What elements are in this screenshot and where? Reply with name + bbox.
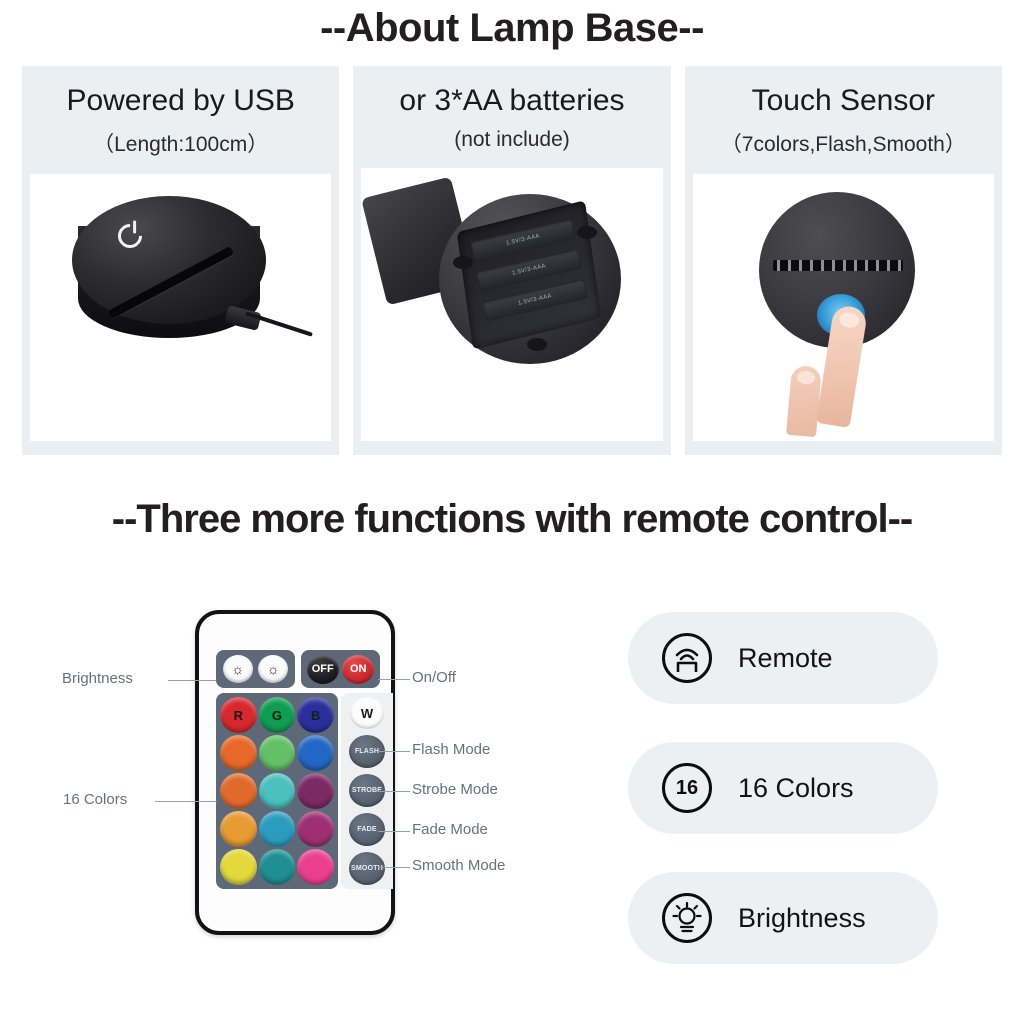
- color-cyan-button[interactable]: [259, 811, 296, 847]
- panel-title: Touch Sensor: [752, 84, 935, 119]
- remote-top-row: ☼ ☼ OFF ON: [216, 650, 380, 688]
- color-green-button[interactable]: G: [259, 697, 296, 733]
- leader-line-16-colors: [155, 801, 217, 802]
- callout-on-off: On/Off: [412, 669, 456, 686]
- color-red-button[interactable]: R: [220, 697, 257, 733]
- battery-compartment-photo: 1.5V/3-AAA 1.5V/3-AAA 1.5V/3-AAA: [361, 168, 662, 442]
- callout-flash-mode: Flash Mode: [412, 741, 490, 758]
- leader-line-fade: [378, 831, 410, 832]
- panel-title: Powered by USB: [66, 84, 294, 119]
- feature-pill-list: Remote 16 16 Colors Brig: [628, 612, 938, 964]
- color-white-button[interactable]: W: [350, 697, 384, 729]
- page-title-remote-functions: --Three more functions with remote contr…: [0, 497, 1024, 542]
- panel-touch-sensor: Touch Sensor （7colors,Flash,Smooth）: [685, 66, 1002, 455]
- touch-sensor-photo: [693, 174, 994, 442]
- feature-pill-remote[interactable]: Remote: [628, 612, 938, 704]
- panel-subtitle: （Length:100cm）: [93, 128, 268, 158]
- feature-pill-label: 16 Colors: [738, 773, 854, 804]
- lightbulb-icon: [662, 893, 712, 943]
- leader-line-on-off: [378, 679, 410, 680]
- color-teal-button[interactable]: [259, 849, 296, 885]
- color-amber-button[interactable]: [220, 811, 257, 847]
- color-yellow-button[interactable]: [220, 849, 257, 885]
- hand-finger-secondary: [786, 364, 822, 436]
- off-button[interactable]: OFF: [307, 655, 339, 684]
- callout-smooth-mode: Smooth Mode: [412, 857, 505, 874]
- callout-strobe-mode: Strobe Mode: [412, 781, 498, 798]
- number-16-text: 16: [665, 766, 709, 810]
- feature-pill-label: Remote: [738, 643, 833, 674]
- feature-panels: Powered by USB （Length:100cm） or 3*AA ba…: [22, 66, 1002, 455]
- callout-brightness: Brightness: [62, 670, 133, 687]
- page-title-about-lamp-base: --About Lamp Base--: [0, 6, 1024, 51]
- rubber-foot: [453, 256, 473, 269]
- brightness-down-button[interactable]: ☼: [258, 655, 288, 683]
- remote-signal-icon: [662, 633, 712, 683]
- smooth-mode-button[interactable]: SMOOTH: [349, 852, 385, 885]
- product-infographic: --About Lamp Base-- Powered by USB （Leng…: [0, 0, 1024, 1024]
- panel-title: or 3*AA batteries: [399, 84, 624, 119]
- rubber-foot: [577, 226, 597, 239]
- callout-16-colors: 16 Colors: [63, 791, 127, 808]
- color-lightgreen-button[interactable]: [259, 735, 296, 771]
- feature-pill-label: Brightness: [738, 903, 866, 934]
- panel-aa-batteries: or 3*AA batteries (not include) 1.5V/3-A…: [353, 66, 670, 455]
- rubber-foot: [527, 338, 547, 351]
- fade-mode-button[interactable]: FADE: [349, 813, 385, 846]
- leader-line-strobe: [378, 791, 410, 792]
- number-16-icon: 16: [662, 763, 712, 813]
- panel-powered-by-usb: Powered by USB （Length:100cm）: [22, 66, 339, 455]
- feature-pill-16-colors[interactable]: 16 16 Colors: [628, 742, 938, 834]
- color-blue-button[interactable]: B: [297, 697, 334, 733]
- feature-pill-brightness[interactable]: Brightness: [628, 872, 938, 964]
- callout-fade-mode: Fade Mode: [412, 821, 488, 838]
- leader-line-brightness: [168, 680, 216, 681]
- lamp-base-usb-photo: [30, 174, 331, 442]
- led-strip: [773, 260, 903, 271]
- leader-line-smooth: [378, 867, 410, 868]
- panel-subtitle: （7colors,Flash,Smooth）: [721, 128, 966, 158]
- brightness-group: ☼ ☼: [216, 650, 295, 688]
- color-turquoise-button[interactable]: [259, 773, 296, 809]
- color-orange-1-button[interactable]: [220, 735, 257, 771]
- power-group: OFF ON: [301, 650, 380, 688]
- ir-remote-control[interactable]: ☼ ☼ OFF ON RGB WFLASHSTROBEFADESMOOTH: [195, 610, 395, 935]
- panel-subtitle: (not include): [454, 128, 570, 152]
- lamp-base-top-surface: [72, 196, 266, 324]
- color-royalblue-button[interactable]: [297, 735, 334, 771]
- on-button[interactable]: ON: [342, 655, 374, 684]
- color-purple-button[interactable]: [297, 773, 334, 809]
- brightness-up-button[interactable]: ☼: [223, 655, 253, 683]
- color-button-grid: RGB: [216, 693, 338, 889]
- color-pink-button[interactable]: [297, 849, 334, 885]
- leader-line-flash: [378, 751, 410, 752]
- color-orange-2-button[interactable]: [220, 773, 257, 809]
- color-magenta-dark-button[interactable]: [297, 811, 334, 847]
